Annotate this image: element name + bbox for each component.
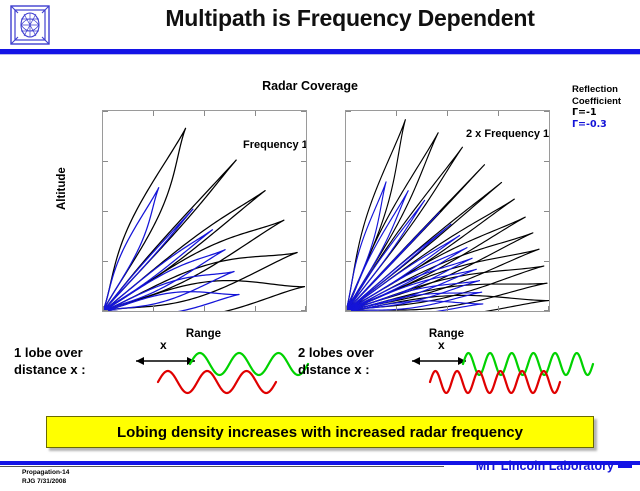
wave-caption-right-line1: 2 lobes over [298,344,374,361]
charts-group-title: Radar Coverage [180,79,440,93]
chart-left-y-axis-label: Altitude [56,167,68,210]
page-title: Multipath is Frequency Dependent [70,5,630,32]
wave-caption-left-line2: distance x : [14,361,86,378]
legend-gamma-blue: Γ=-0.3 [572,119,621,131]
footer-brand-text: MIT Lincoln Laboratory [476,459,614,473]
legend-title-line1: Reflection [572,84,621,96]
wave-caption-left: 1 lobe over distance x : [14,344,86,378]
distance-arrow-right [412,357,466,365]
charts-region: Radar Coverage Altitude [0,58,640,333]
wave-left-x-label: x [160,338,167,352]
wave-caption-right-line2: distance x : [298,361,374,378]
wave-caption-right: 2 lobes over distance x : [298,344,374,378]
coverage-lobe [346,182,386,311]
footer-author-date: RJG 7/31/2008 [22,478,69,487]
coverage-lobe [346,120,405,311]
coverage-lobe [103,230,212,311]
wave-art-right: x [408,338,638,401]
footer-divider-thin [0,466,444,467]
wave-caption-left-line1: 1 lobe over [14,344,86,361]
wave-left-svg [132,338,312,396]
callout-banner: Lobing density increases with increased … [46,416,594,448]
callout-text: Lobing density increases with increased … [117,424,523,441]
chart-left-annotation: Frequency 1 [243,139,307,151]
chart-right-annotation: 2 x Frequency 1 [466,128,549,140]
chart-right-plot-area: 2 1.5 1 0.5 0 0 0.5 1 1.5 2 2 x Frequenc… [345,110,550,312]
legend-gamma-black: Γ=-1 [572,107,621,119]
distance-arrow-left [136,357,195,365]
wave-right-x-label: x [438,338,445,352]
footer-brand-dash-icon [618,465,632,468]
footer-deck-id: Propagation-14 [22,469,69,478]
mit-ll-emblem-icon [8,4,52,46]
wave-explanation-row: 1 lobe over distance x : x 2 lobes over … [0,338,640,400]
wave-art-left: x [132,338,312,401]
chart-right-lobes [346,111,549,311]
header-divider-thin [0,54,640,55]
legend-title-line2: Coefficient [572,96,621,108]
chart-left-plot-area: 2 1.5 1 0.5 0 0 0.5 1 1.5 2 Frequency 1 [102,110,307,312]
slide-header: Multipath is Frequency Dependent [0,0,640,50]
reflection-coefficient-legend: Reflection Coefficient Γ=-1 Γ=-0.3 [572,84,621,130]
footer-meta: Propagation-14 RJG 7/31/2008 [22,469,69,486]
coverage-lobe [103,191,265,311]
footer-brand: MIT Lincoln Laboratory [476,459,632,473]
